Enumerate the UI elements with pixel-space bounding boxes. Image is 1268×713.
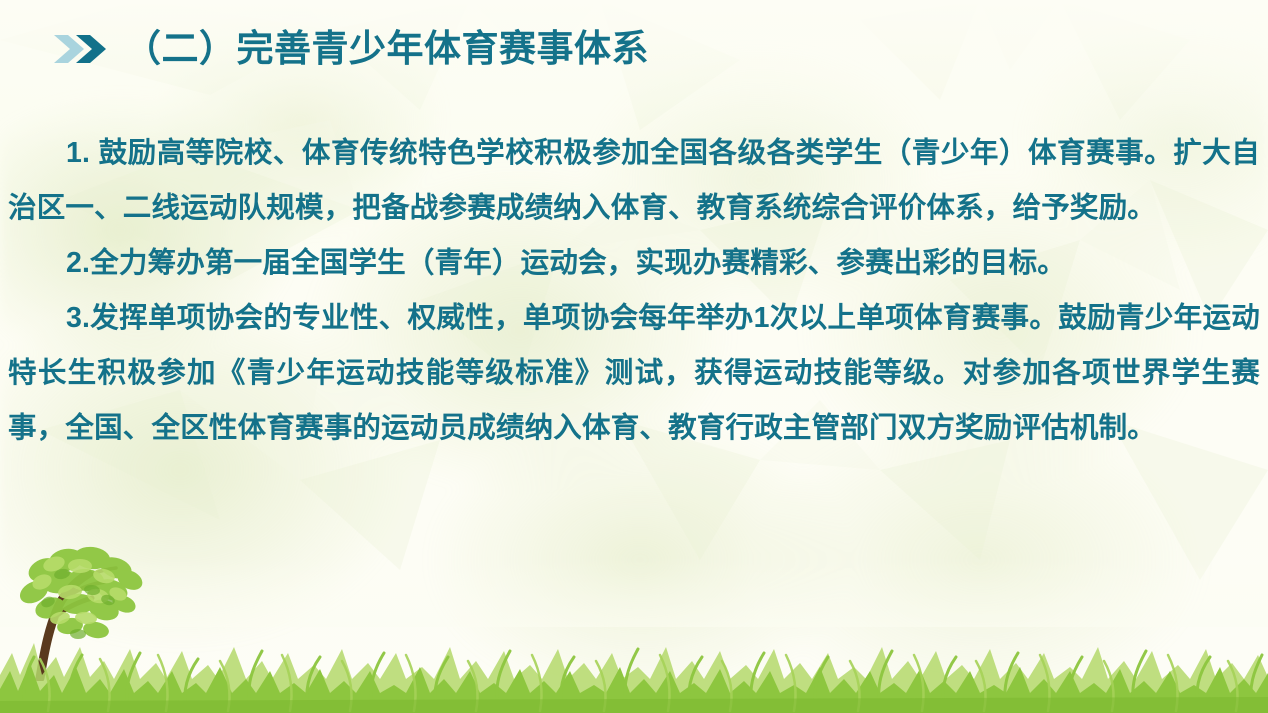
grass-icon (0, 613, 1268, 713)
paragraph-item-2: 2.全力筹办第一届全国学生（青年）运动会，实现办赛精彩、参赛出彩的目标。 (8, 236, 1260, 291)
paragraph-item-3: 3.发挥单项协会的专业性、权威性，单项协会每年举办1次以上单项体育赛事。鼓励青少… (8, 291, 1260, 456)
slide-heading: （二）完善青少年体育赛事体系 (52, 30, 649, 67)
double-chevron-right-icon (52, 32, 108, 66)
page-title: （二）完善青少年体育赛事体系 (124, 30, 649, 67)
paragraph-item-1: 1. 鼓励高等院校、体育传统特色学校积极参加全国各级各类学生（青少年）体育赛事。… (8, 126, 1260, 236)
slide-body: 1. 鼓励高等院校、体育传统特色学校积极参加全国各级各类学生（青少年）体育赛事。… (8, 126, 1260, 456)
slide-canvas: （二）完善青少年体育赛事体系 1. 鼓励高等院校、体育传统特色学校积极参加全国各… (0, 0, 1268, 713)
